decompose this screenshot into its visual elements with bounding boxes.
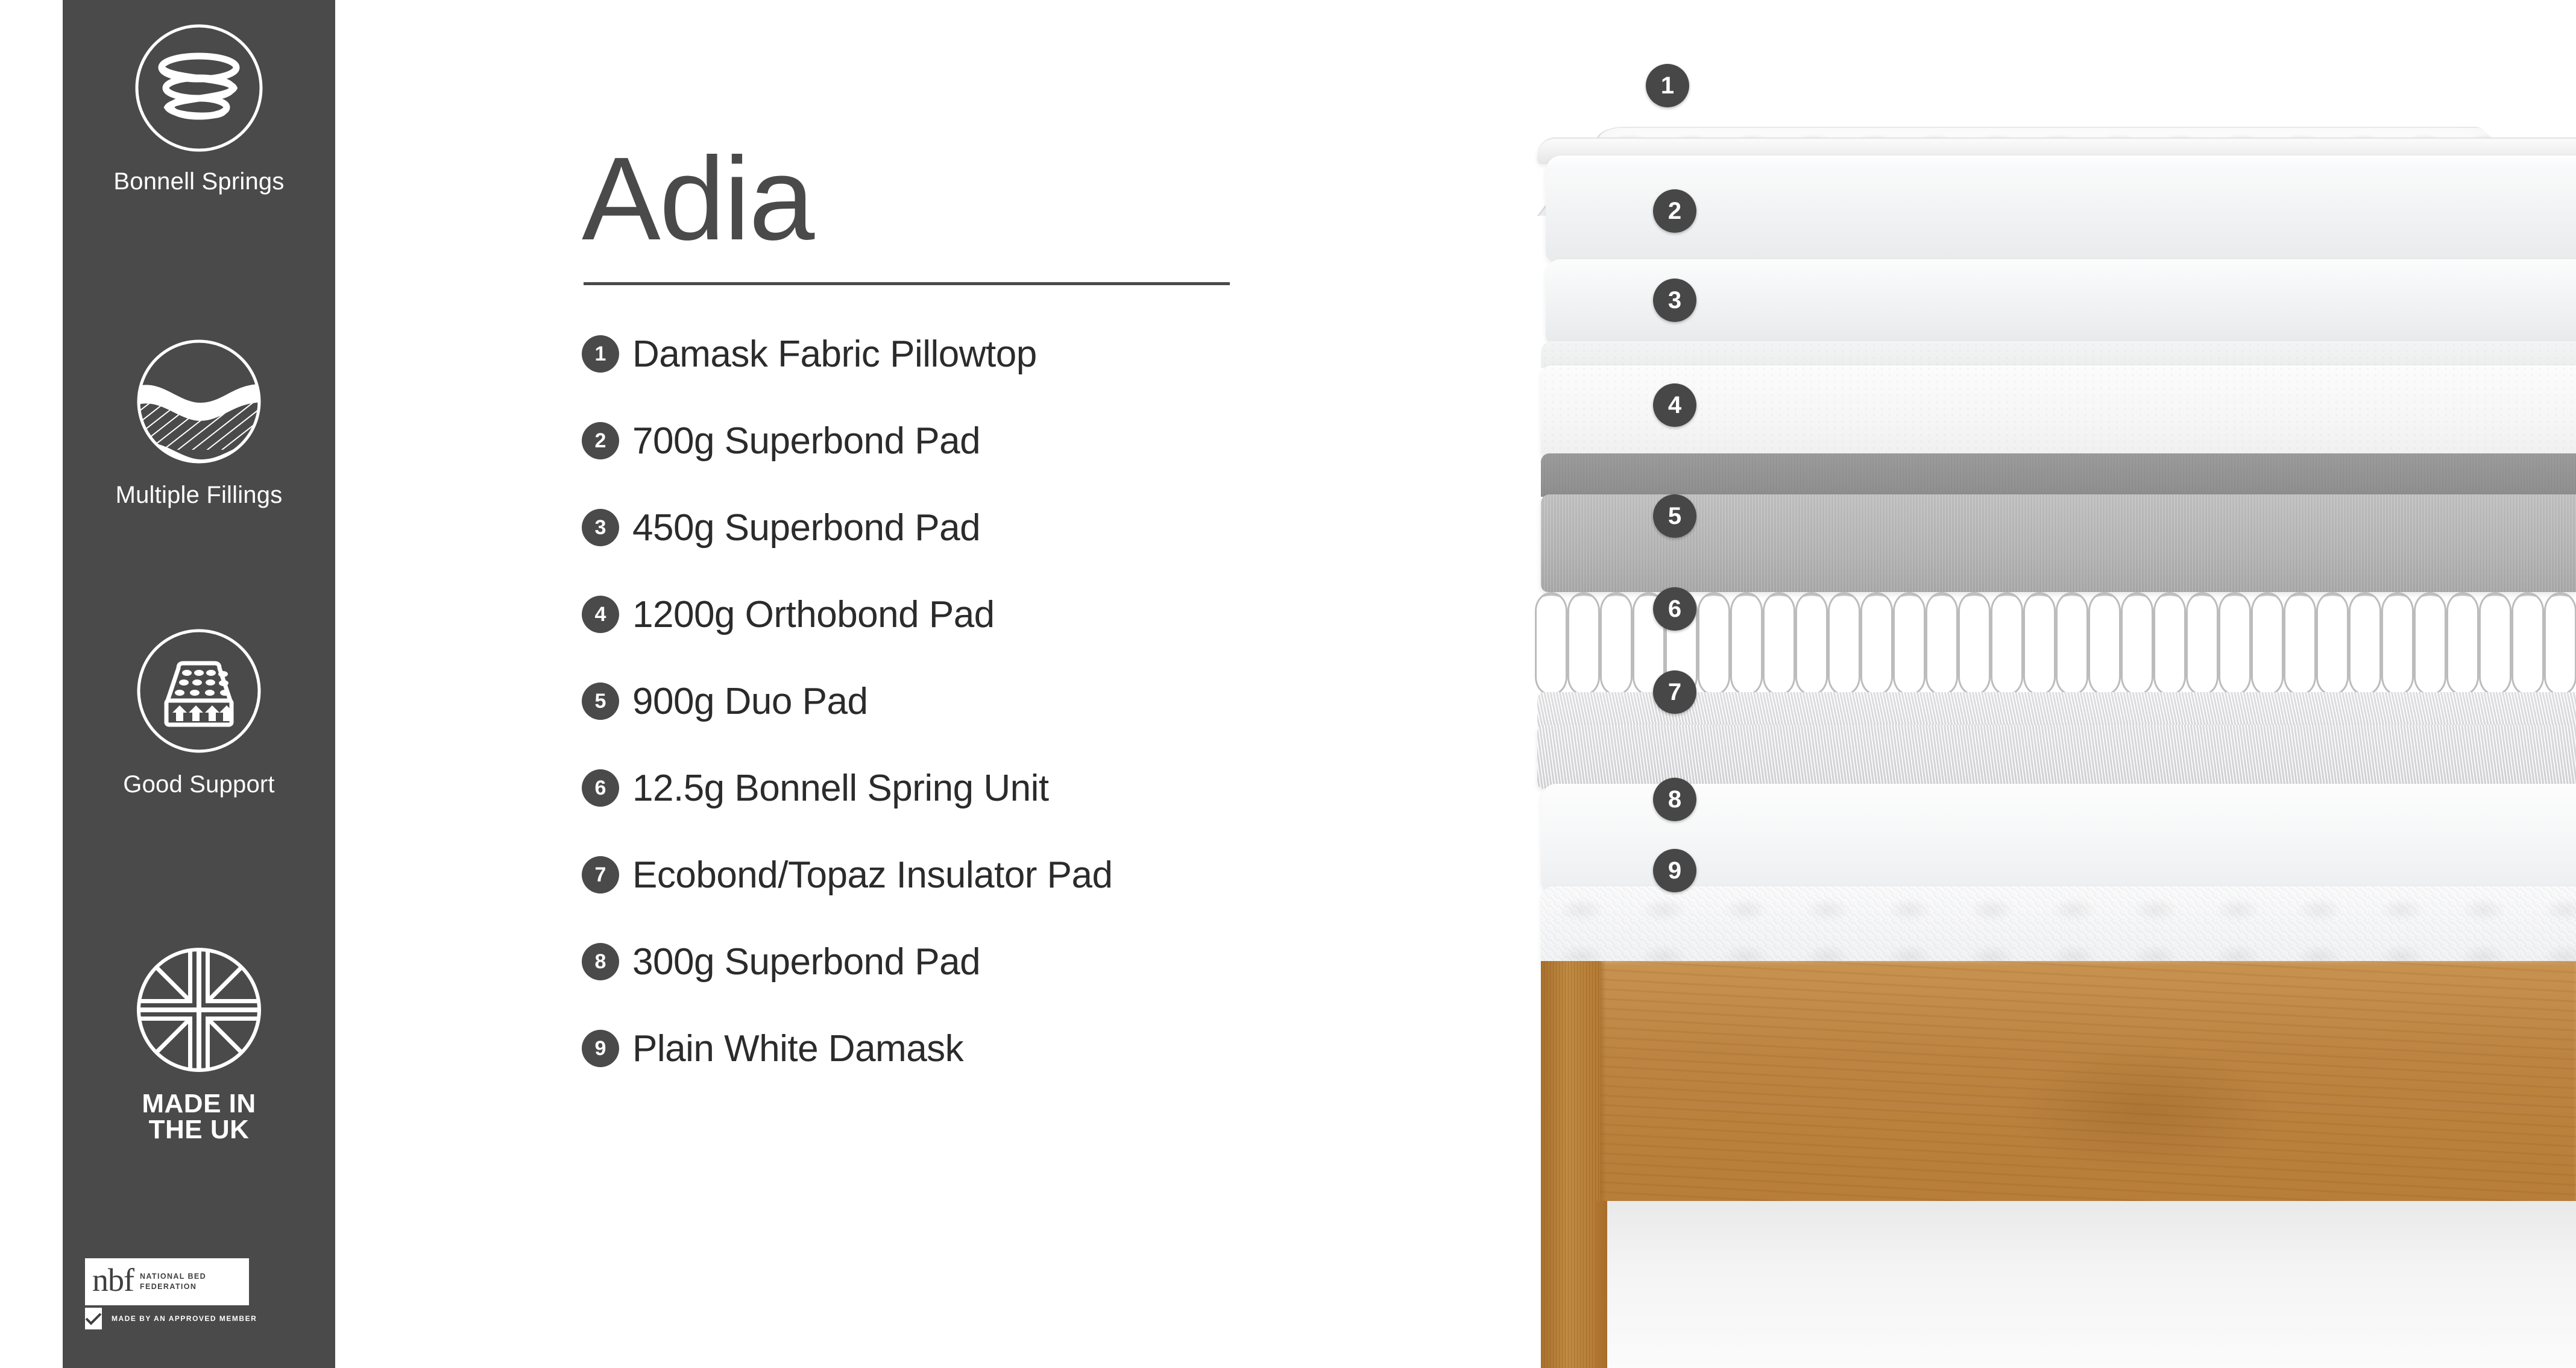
mattress-layer-diagram: 1 2 3 4 5 6 7 8 9 (1525, 0, 2576, 1368)
450g-superbond-pad-layer (1546, 259, 2576, 345)
nbf-approved-text: MADE BY AN APPROVED MEMBER (102, 1314, 257, 1323)
layer-face (1546, 259, 2576, 345)
spring-coil (2121, 592, 2153, 696)
callout-8: 8 (1653, 778, 1696, 821)
page-title: Adia (582, 140, 813, 258)
nbf-org-line1: NATIONAL BED (140, 1272, 206, 1282)
layer-list: 1 Damask Fabric Pillowtop 2 700g Superbo… (582, 333, 1426, 1114)
spring-coil (1926, 592, 1958, 696)
feature-good-support: Good Support (63, 625, 335, 798)
spring-coil (2414, 592, 2446, 696)
list-item: 7 Ecobond/Topaz Insulator Pad (582, 854, 1426, 896)
nbf-approved-member-badge: nbf NATIONAL BED FEDERATION MADE BY AN A… (82, 1255, 252, 1332)
spring-coil (2219, 592, 2251, 696)
list-item-label: 900g Duo Pad (632, 680, 868, 723)
spring-coil (2088, 592, 2121, 696)
feature-multiple-fillings: Multiple Fillings (63, 335, 335, 509)
spring-coil (2056, 592, 2088, 696)
product-details-panel: Adia 1 Damask Fabric Pillowtop 2 700g Su… (582, 0, 1426, 1368)
list-item-number: 6 (582, 769, 619, 807)
list-item: 1 Damask Fabric Pillowtop (582, 333, 1426, 375)
plain-white-damask-layer (1541, 886, 2576, 971)
callout-2: 2 (1653, 189, 1696, 233)
spring-coil (1893, 592, 1926, 696)
900g-duo-pad-layer (1541, 453, 2576, 592)
list-item-number: 7 (582, 856, 619, 894)
made-in-uk-badge: MADE IN THE UK (63, 941, 335, 1143)
callout-3: 3 (1653, 279, 1696, 322)
list-item-number: 1 (582, 335, 619, 373)
spring-coil (1600, 592, 1633, 696)
list-item-number: 5 (582, 682, 619, 720)
spring-coil (2316, 592, 2349, 696)
spring-coil (1795, 592, 1828, 696)
layer-face (1546, 156, 2576, 263)
feature-label: Multiple Fillings (116, 482, 283, 509)
nbf-approved-row: MADE BY AN APPROVED MEMBER (85, 1305, 249, 1329)
list-item-label: 1200g Orthobond Pad (632, 593, 995, 636)
list-item-label: 700g Superbond Pad (632, 420, 980, 462)
made-in-uk-line2: THE UK (142, 1117, 256, 1143)
spring-coil (1730, 592, 1763, 696)
list-item: 6 12.5g Bonnell Spring Unit (582, 767, 1426, 809)
spring-coil (2186, 592, 2219, 696)
nbf-org-name: NATIONAL BED FEDERATION (140, 1272, 206, 1292)
spring-coil (1763, 592, 1795, 696)
layer-face (1541, 494, 2576, 592)
under-bed-area (1606, 1201, 2576, 1368)
spring-coil (1828, 592, 1860, 696)
list-item-label: Plain White Damask (632, 1027, 963, 1070)
list-item-number: 3 (582, 509, 619, 546)
nbf-wordmark: nbf (92, 1267, 134, 1293)
layer-face (1541, 886, 2576, 971)
bed-frame-leg (1541, 961, 1600, 1368)
spring-coil (2284, 592, 2316, 696)
list-item-label: 450g Superbond Pad (632, 506, 980, 549)
list-item-number: 2 (582, 422, 619, 459)
spring-coil (2349, 592, 2381, 696)
spring-coil (2251, 592, 2284, 696)
mattress-support-arrows-icon (133, 625, 265, 760)
layer-top-edge (1541, 341, 2576, 368)
feature-bonnell-springs: Bonnell Springs (63, 22, 335, 195)
spring-coil (2446, 592, 2479, 696)
bed-frame-rail (1596, 961, 2576, 1202)
wavy-layered-fillings-icon (133, 335, 265, 471)
list-item: 4 1200g Orthobond Pad (582, 593, 1426, 635)
spring-coil (1860, 592, 1893, 696)
list-item-label: 12.5g Bonnell Spring Unit (632, 767, 1049, 810)
title-divider (584, 282, 1230, 285)
feature-label: Good Support (123, 771, 274, 798)
spring-coil (1567, 592, 1600, 696)
nbf-org-line2: FEDERATION (140, 1282, 206, 1292)
1200g-orthobond-pad-layer (1541, 341, 2576, 459)
layer-top-edge (1541, 453, 2576, 497)
list-item: 3 450g Superbond Pad (582, 506, 1426, 549)
list-item-label: 300g Superbond Pad (632, 941, 980, 983)
layer-face (1541, 365, 2576, 459)
features-sidebar: Bonnell Springs Multiple Fil (63, 0, 335, 1368)
ecobond-topaz-insulator-pad-layer (1537, 692, 2576, 789)
spring-coil (1958, 592, 1991, 696)
spring-coil (2479, 592, 2511, 696)
made-in-uk-text: MADE IN THE UK (142, 1091, 256, 1143)
bonnell-spring-coil-icon (133, 22, 265, 157)
spring-coil (2511, 592, 2544, 696)
list-item-label: Ecobond/Topaz Insulator Pad (632, 854, 1113, 897)
bed-frame-leg-lower (1596, 1201, 1607, 1368)
layer-face (1537, 725, 2576, 789)
spring-coil (1991, 592, 2023, 696)
made-in-uk-line1: MADE IN (142, 1091, 256, 1117)
callout-6: 6 (1653, 587, 1696, 631)
checkmark-icon (85, 1308, 102, 1329)
callout-9: 9 (1653, 849, 1696, 892)
700g-superbond-pad-layer (1546, 156, 2576, 263)
nbf-logo-row: nbf NATIONAL BED FEDERATION (85, 1258, 249, 1305)
spring-coil (2023, 592, 2056, 696)
spring-coil (2544, 592, 2576, 696)
callout-5: 5 (1653, 494, 1696, 538)
spring-coil (2153, 592, 2186, 696)
callout-1: 1 (1646, 64, 1689, 107)
callout-4: 4 (1653, 383, 1696, 427)
wooden-bed-frame (1541, 961, 2576, 1368)
list-item-number: 8 (582, 943, 619, 980)
list-item-number: 9 (582, 1030, 619, 1067)
list-item-label: Damask Fabric Pillowtop (632, 333, 1037, 376)
union-jack-circle-icon (130, 941, 268, 1082)
feature-label: Bonnell Springs (113, 168, 284, 195)
list-item: 5 900g Duo Pad (582, 680, 1426, 722)
list-item: 2 700g Superbond Pad (582, 420, 1426, 462)
spring-coil (1698, 592, 1730, 696)
list-item: 9 Plain White Damask (582, 1027, 1426, 1070)
list-item: 8 300g Superbond Pad (582, 941, 1426, 983)
callout-7: 7 (1653, 670, 1696, 714)
list-item-number: 4 (582, 596, 619, 633)
spring-coil (2381, 592, 2414, 696)
spring-coil (1535, 592, 1567, 696)
